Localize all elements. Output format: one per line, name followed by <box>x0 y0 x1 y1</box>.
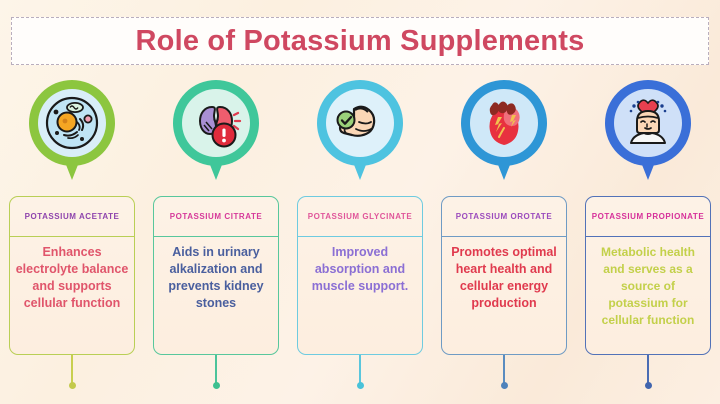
infographic-canvas: Role of Potassium Supplements <box>0 0 720 404</box>
card-body-text: Improved absorption and muscle support. <box>303 244 417 295</box>
card-header-text: POTASSIUM GLYCINATE <box>308 211 413 223</box>
pin-cell-potassium-acetate <box>0 80 144 188</box>
card-header-text: POTASSIUM ACETATE <box>25 211 120 223</box>
card-body-text: Metabolic health and serves as a source … <box>591 244 705 329</box>
flexed-bicep-check-icon <box>326 89 394 157</box>
card-header-text: POTASSIUM OROTATE <box>456 211 552 223</box>
card-cell-potassium-propionate: POTASSIUM PROPIONATE Metabolic health an… <box>576 196 720 356</box>
card-cell-potassium-orotate: POTASSIUM OROTATE Promotes optimal heart… <box>432 196 576 356</box>
page-title: Role of Potassium Supplements <box>136 25 585 58</box>
card-body-text: Promotes optimal heart health and cellul… <box>447 244 561 312</box>
connector-potassium-propionate <box>576 355 720 403</box>
connector-line <box>215 355 217 383</box>
connector-potassium-orotate <box>432 355 576 403</box>
card-header: POTASSIUM ACETATE <box>10 197 134 237</box>
pin-cell-potassium-propionate <box>576 80 720 188</box>
pin-marker-potassium-propionate <box>605 80 691 184</box>
card-cell-potassium-acetate: POTASSIUM ACETATE Enhances electrolyte b… <box>0 196 144 356</box>
connector-dot <box>645 382 652 389</box>
card-body: Metabolic health and serves as a source … <box>586 237 710 354</box>
mindful-head-heart-icon <box>614 89 682 157</box>
card-potassium-orotate[interactable]: POTASSIUM OROTATE Promotes optimal heart… <box>441 196 567 355</box>
connector-line <box>359 355 361 383</box>
pin-cell-potassium-glycinate <box>288 80 432 188</box>
connector-line <box>647 355 649 383</box>
card-header-text: POTASSIUM PROPIONATE <box>592 211 705 223</box>
card-body: Aids in urinary alkalization and prevent… <box>154 237 278 354</box>
connector-dot <box>357 382 364 389</box>
pin-cell-potassium-citrate <box>144 80 288 188</box>
connector-potassium-citrate <box>144 355 288 403</box>
card-header: POTASSIUM GLYCINATE <box>298 197 422 237</box>
cards-row: POTASSIUM ACETATE Enhances electrolyte b… <box>0 196 720 356</box>
card-cell-potassium-glycinate: POTASSIUM GLYCINATE Improved absorption … <box>288 196 432 356</box>
card-header: POTASSIUM CITRATE <box>154 197 278 237</box>
card-potassium-citrate[interactable]: POTASSIUM CITRATE Aids in urinary alkali… <box>153 196 279 355</box>
card-potassium-propionate[interactable]: POTASSIUM PROPIONATE Metabolic health an… <box>585 196 711 355</box>
kidneys-warning-icon <box>182 89 250 157</box>
connector-line <box>71 355 73 383</box>
pin-marker-potassium-glycinate <box>317 80 403 184</box>
pin-cell-potassium-orotate <box>432 80 576 188</box>
card-body: Promotes optimal heart health and cellul… <box>442 237 566 354</box>
card-potassium-acetate[interactable]: POTASSIUM ACETATE Enhances electrolyte b… <box>9 196 135 355</box>
pin-marker-potassium-acetate <box>29 80 115 184</box>
card-body-text: Enhances electrolyte balance and support… <box>15 244 129 312</box>
connectors-row <box>0 355 720 403</box>
connector-potassium-glycinate <box>288 355 432 403</box>
title-box: Role of Potassium Supplements <box>11 17 709 65</box>
anatomical-heart-icon <box>470 89 538 157</box>
connector-line <box>503 355 505 383</box>
card-body: Improved absorption and muscle support. <box>298 237 422 354</box>
card-header: POTASSIUM OROTATE <box>442 197 566 237</box>
icon-pins-row <box>0 80 720 188</box>
connector-dot <box>69 382 76 389</box>
connector-potassium-acetate <box>0 355 144 403</box>
card-body: Enhances electrolyte balance and support… <box>10 237 134 354</box>
connector-dot <box>213 382 220 389</box>
card-body-text: Aids in urinary alkalization and prevent… <box>159 244 273 312</box>
card-header: POTASSIUM PROPIONATE <box>586 197 710 237</box>
pin-marker-potassium-orotate <box>461 80 547 184</box>
card-header-text: POTASSIUM CITRATE <box>170 211 263 223</box>
cell-icon <box>38 89 106 157</box>
connector-dot <box>501 382 508 389</box>
pin-marker-potassium-citrate <box>173 80 259 184</box>
card-potassium-glycinate[interactable]: POTASSIUM GLYCINATE Improved absorption … <box>297 196 423 355</box>
card-cell-potassium-citrate: POTASSIUM CITRATE Aids in urinary alkali… <box>144 196 288 356</box>
